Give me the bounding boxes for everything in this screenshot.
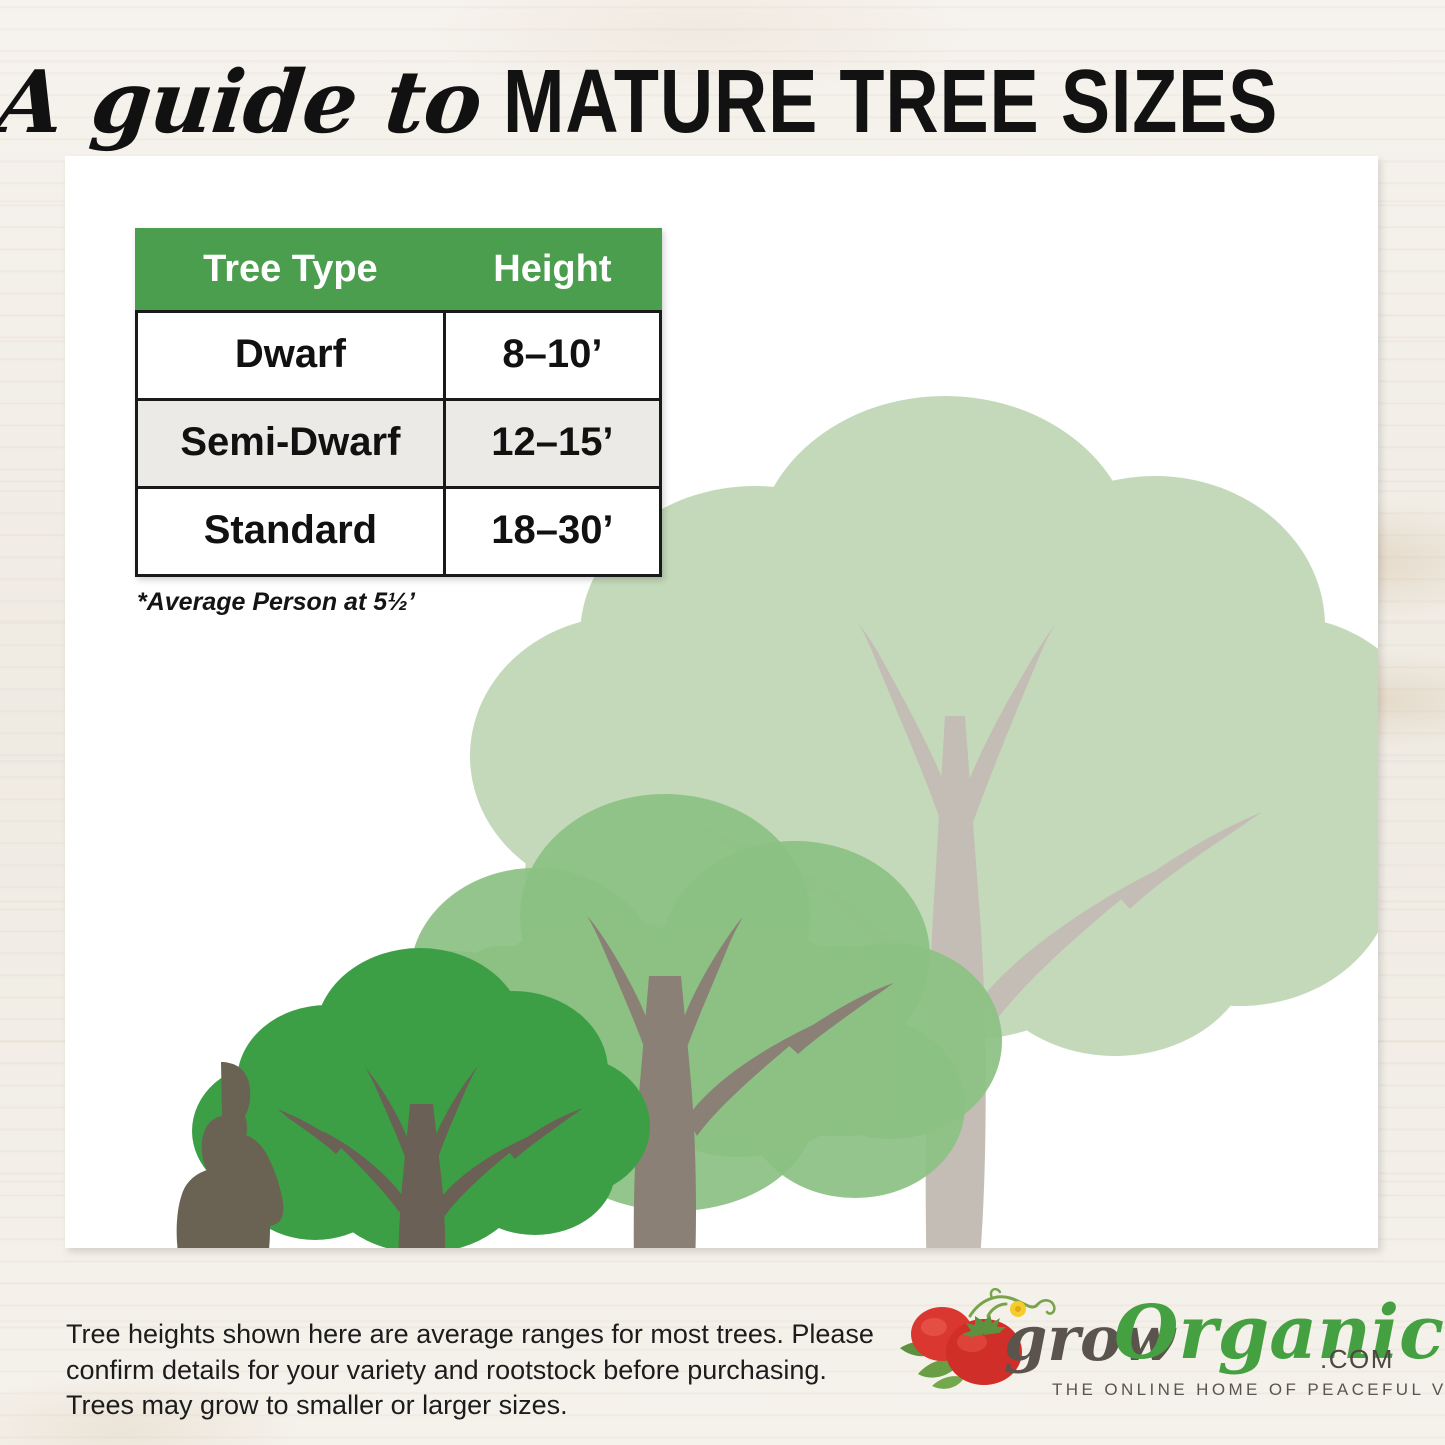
cell-tree-type-standard: Standard bbox=[137, 488, 445, 576]
table-footnote: *Average Person at 5½’ bbox=[137, 588, 415, 617]
table-row: Semi-Dwarf 12–15’ bbox=[137, 400, 661, 488]
page-title-block: MATURE TREE SIZES bbox=[503, 51, 1278, 154]
logo-word-organic: Organic bbox=[1114, 1290, 1444, 1376]
table-row: Dwarf 8–10’ bbox=[137, 312, 661, 400]
column-header-height: Height bbox=[444, 230, 660, 312]
cell-tree-type-dwarf: Dwarf bbox=[137, 312, 445, 400]
cell-tree-type-semi-dwarf: Semi-Dwarf bbox=[137, 400, 445, 488]
content-card: Tree Type Height Dwarf 8–10’ Semi-Dwarf … bbox=[65, 156, 1378, 1248]
page-title: A guide to MATURE TREE SIZES bbox=[0, 48, 1445, 156]
table-header-row: Tree Type Height bbox=[137, 230, 661, 312]
cell-height-semi-dwarf: 12–15’ bbox=[444, 400, 660, 488]
logo-domain-suffix: .COM bbox=[1320, 1344, 1394, 1375]
cell-height-dwarf: 8–10’ bbox=[444, 312, 660, 400]
page-title-script: A guide to bbox=[0, 52, 486, 153]
infographic-page: A guide to MATURE TREE SIZES bbox=[0, 0, 1445, 1445]
disclaimer-text: Tree heights shown here are average rang… bbox=[66, 1317, 896, 1424]
cell-height-standard: 18–30’ bbox=[444, 488, 660, 576]
logo-tagline: THE ONLINE HOME OF PEACEFUL VALLEY bbox=[1052, 1380, 1445, 1400]
grow-organic-logo[interactable]: grow Organic .COM THE ONLINE HOME OF PEA… bbox=[900, 1282, 1400, 1412]
column-header-tree-type: Tree Type bbox=[137, 230, 445, 312]
footer: Tree heights shown here are average rang… bbox=[0, 1262, 1445, 1445]
tree-size-table: Tree Type Height Dwarf 8–10’ Semi-Dwarf … bbox=[135, 228, 662, 577]
table-row: Standard 18–30’ bbox=[137, 488, 661, 576]
